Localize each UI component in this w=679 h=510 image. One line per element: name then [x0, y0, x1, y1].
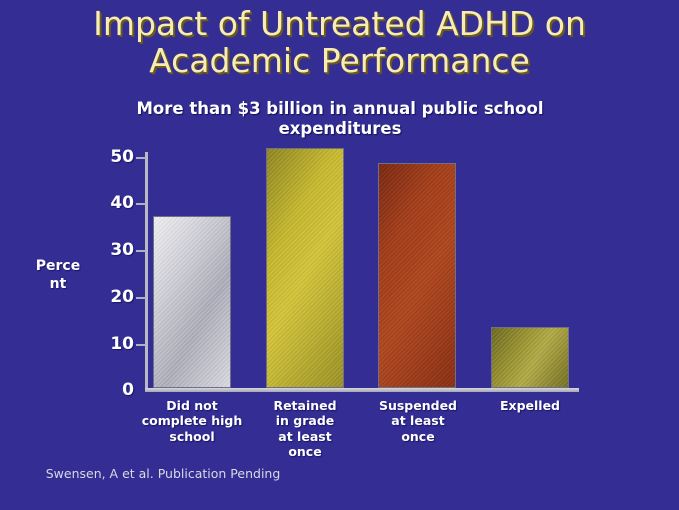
x-category-label-0: Did not complete high school — [133, 398, 251, 444]
x-category-label-line: Suspended — [359, 398, 477, 413]
x-category-label-line: once — [359, 429, 477, 444]
source-citation: Swensen, A et al. Publication Pending — [32, 466, 294, 482]
x-category-label-line: at least — [359, 413, 477, 428]
bar-suspended-at-least-once[interactable] — [378, 163, 456, 388]
y-tick-label: 10 — [88, 334, 134, 354]
x-category-label-line: Retained — [246, 398, 364, 413]
y-tick-30: 30 — [0, 250, 134, 251]
x-category-label-line: Did not — [133, 398, 251, 413]
x-category-label-3: Expelled — [471, 398, 589, 413]
x-axis-line — [145, 388, 579, 392]
x-category-label-line: complete high — [133, 413, 251, 428]
bar-retained-in-grade[interactable] — [266, 148, 344, 388]
y-tick-mark — [136, 157, 146, 159]
y-axis-title-line-1: Perce — [20, 258, 96, 276]
y-tick-40: 40 — [0, 203, 134, 204]
slide-canvas: Impact of Untreated ADHD on Academic Per… — [0, 0, 679, 510]
y-tick-label: 30 — [88, 240, 134, 260]
bar-did-not-complete-high-school[interactable] — [153, 216, 231, 388]
y-tick-10: 10 — [0, 344, 134, 345]
y-tick-20: 20 — [0, 297, 134, 298]
y-tick-label: 50 — [88, 147, 134, 167]
x-category-label-line: at least — [246, 429, 364, 444]
y-tick-label: 40 — [88, 193, 134, 213]
bar-chart: 50 40 30 20 10 0 Perce nt — [0, 0, 679, 510]
x-category-label-line: in grade — [246, 413, 364, 428]
x-category-label-2: Suspended at least once — [359, 398, 477, 444]
y-tick-50: 50 — [0, 157, 134, 158]
y-axis-title-line-2: nt — [20, 276, 96, 294]
y-tick-label: 0 — [88, 380, 134, 400]
y-tick-mark — [136, 203, 146, 205]
y-axis-line — [145, 152, 148, 390]
bar-expelled[interactable] — [491, 327, 569, 388]
y-axis-title: Perce nt — [20, 258, 96, 293]
x-category-label-line: once — [246, 444, 364, 459]
y-tick-mark — [136, 250, 146, 252]
x-category-label-line: Expelled — [471, 398, 589, 413]
y-tick-mark — [136, 344, 146, 346]
x-category-label-line: school — [133, 429, 251, 444]
y-tick-mark — [136, 297, 146, 299]
y-tick-0: 0 — [0, 390, 134, 391]
x-category-label-1: Retained in grade at least once — [246, 398, 364, 459]
